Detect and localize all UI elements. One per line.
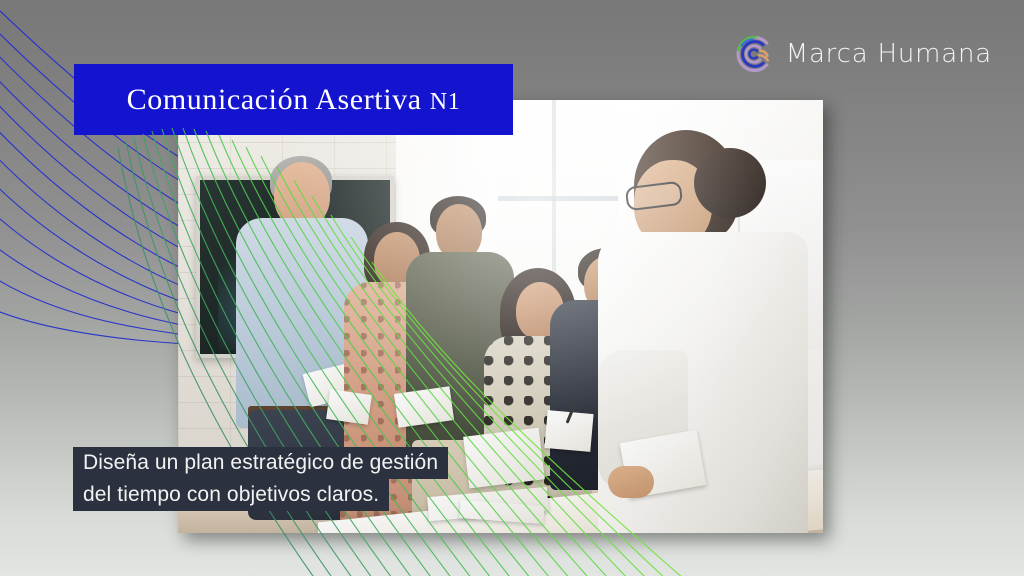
title-banner: Comunicación Asertiva N1: [74, 64, 513, 135]
page-title: Comunicación Asertiva N1: [127, 83, 461, 117]
caption-block: Diseña un plan estratégico de gestión de…: [73, 447, 448, 511]
spiral-swirl-icon: [732, 32, 776, 76]
person-6-hand: [608, 466, 654, 498]
caption-line-2: del tiempo con objetivos claros.: [73, 479, 389, 511]
brand-name: Marca Humana: [786, 39, 992, 69]
slide-canvas: Comunicación Asertiva N1 D: [0, 0, 1024, 576]
caption-line-1: Diseña un plan estratégico de gestión: [73, 447, 448, 479]
page-title-number: N1: [430, 89, 461, 115]
person-2-document: [326, 389, 372, 425]
page-title-main: Comunicación Asertiva: [127, 83, 430, 116]
person-6-hair-bun: [694, 148, 766, 218]
photo-window-frame-h: [498, 196, 618, 201]
person-4-document: [463, 428, 545, 489]
brand-logo: Marca Humana: [732, 32, 992, 76]
